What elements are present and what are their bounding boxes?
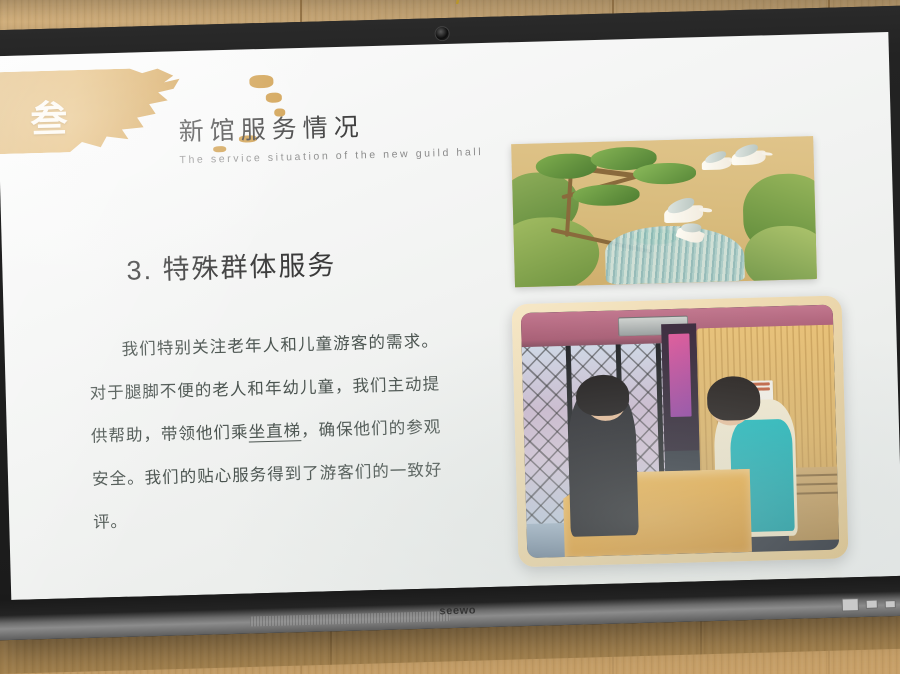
interactive-whiteboard-display[interactable]: 叁 新馆服务情况 The service situation of the ne… <box>0 6 900 641</box>
service-counter-photo <box>521 305 840 558</box>
painting-crane <box>732 150 766 165</box>
speaker-grille <box>250 611 450 626</box>
body-paragraph: 我们特别关注老年人和儿童游客的需求。对于腿脚不便的老人和年幼儿童，我们主动提供帮… <box>88 320 444 544</box>
usb-port-icon <box>842 598 859 611</box>
aux-port-icon <box>885 600 896 608</box>
port-panel[interactable] <box>842 597 896 611</box>
painting-crane <box>664 205 704 223</box>
slide-title-chinese: 新馆服务情况 <box>178 107 365 148</box>
device-brand-label: seewo <box>439 604 476 617</box>
photo-staff-hair <box>707 375 761 421</box>
chinese-landscape-painting <box>511 136 817 287</box>
yellow-wall-hook-icon <box>449 0 469 4</box>
paragraph-emphasis: 坐直梯 <box>248 422 301 441</box>
painting-hill <box>743 224 817 287</box>
screenshot-scene: 叁 新馆服务情况 The service situation of the ne… <box>0 0 900 674</box>
photo-pink-banner <box>668 333 692 417</box>
painting-crane <box>702 157 733 171</box>
brush-fleck <box>266 92 282 102</box>
section-numeral: 叁 <box>30 100 70 138</box>
display-bezel: 叁 新馆服务情况 The service situation of the ne… <box>0 6 900 641</box>
photo-visitor-hair <box>575 374 629 417</box>
camera-icon <box>435 27 448 40</box>
brush-fleck <box>249 75 273 89</box>
display-screen[interactable]: 叁 新馆服务情况 The service situation of the ne… <box>0 32 900 600</box>
hdmi-port-icon <box>866 600 878 609</box>
section-title: 3. 特殊群体服务 <box>126 243 337 288</box>
service-photo-frame <box>512 295 849 567</box>
